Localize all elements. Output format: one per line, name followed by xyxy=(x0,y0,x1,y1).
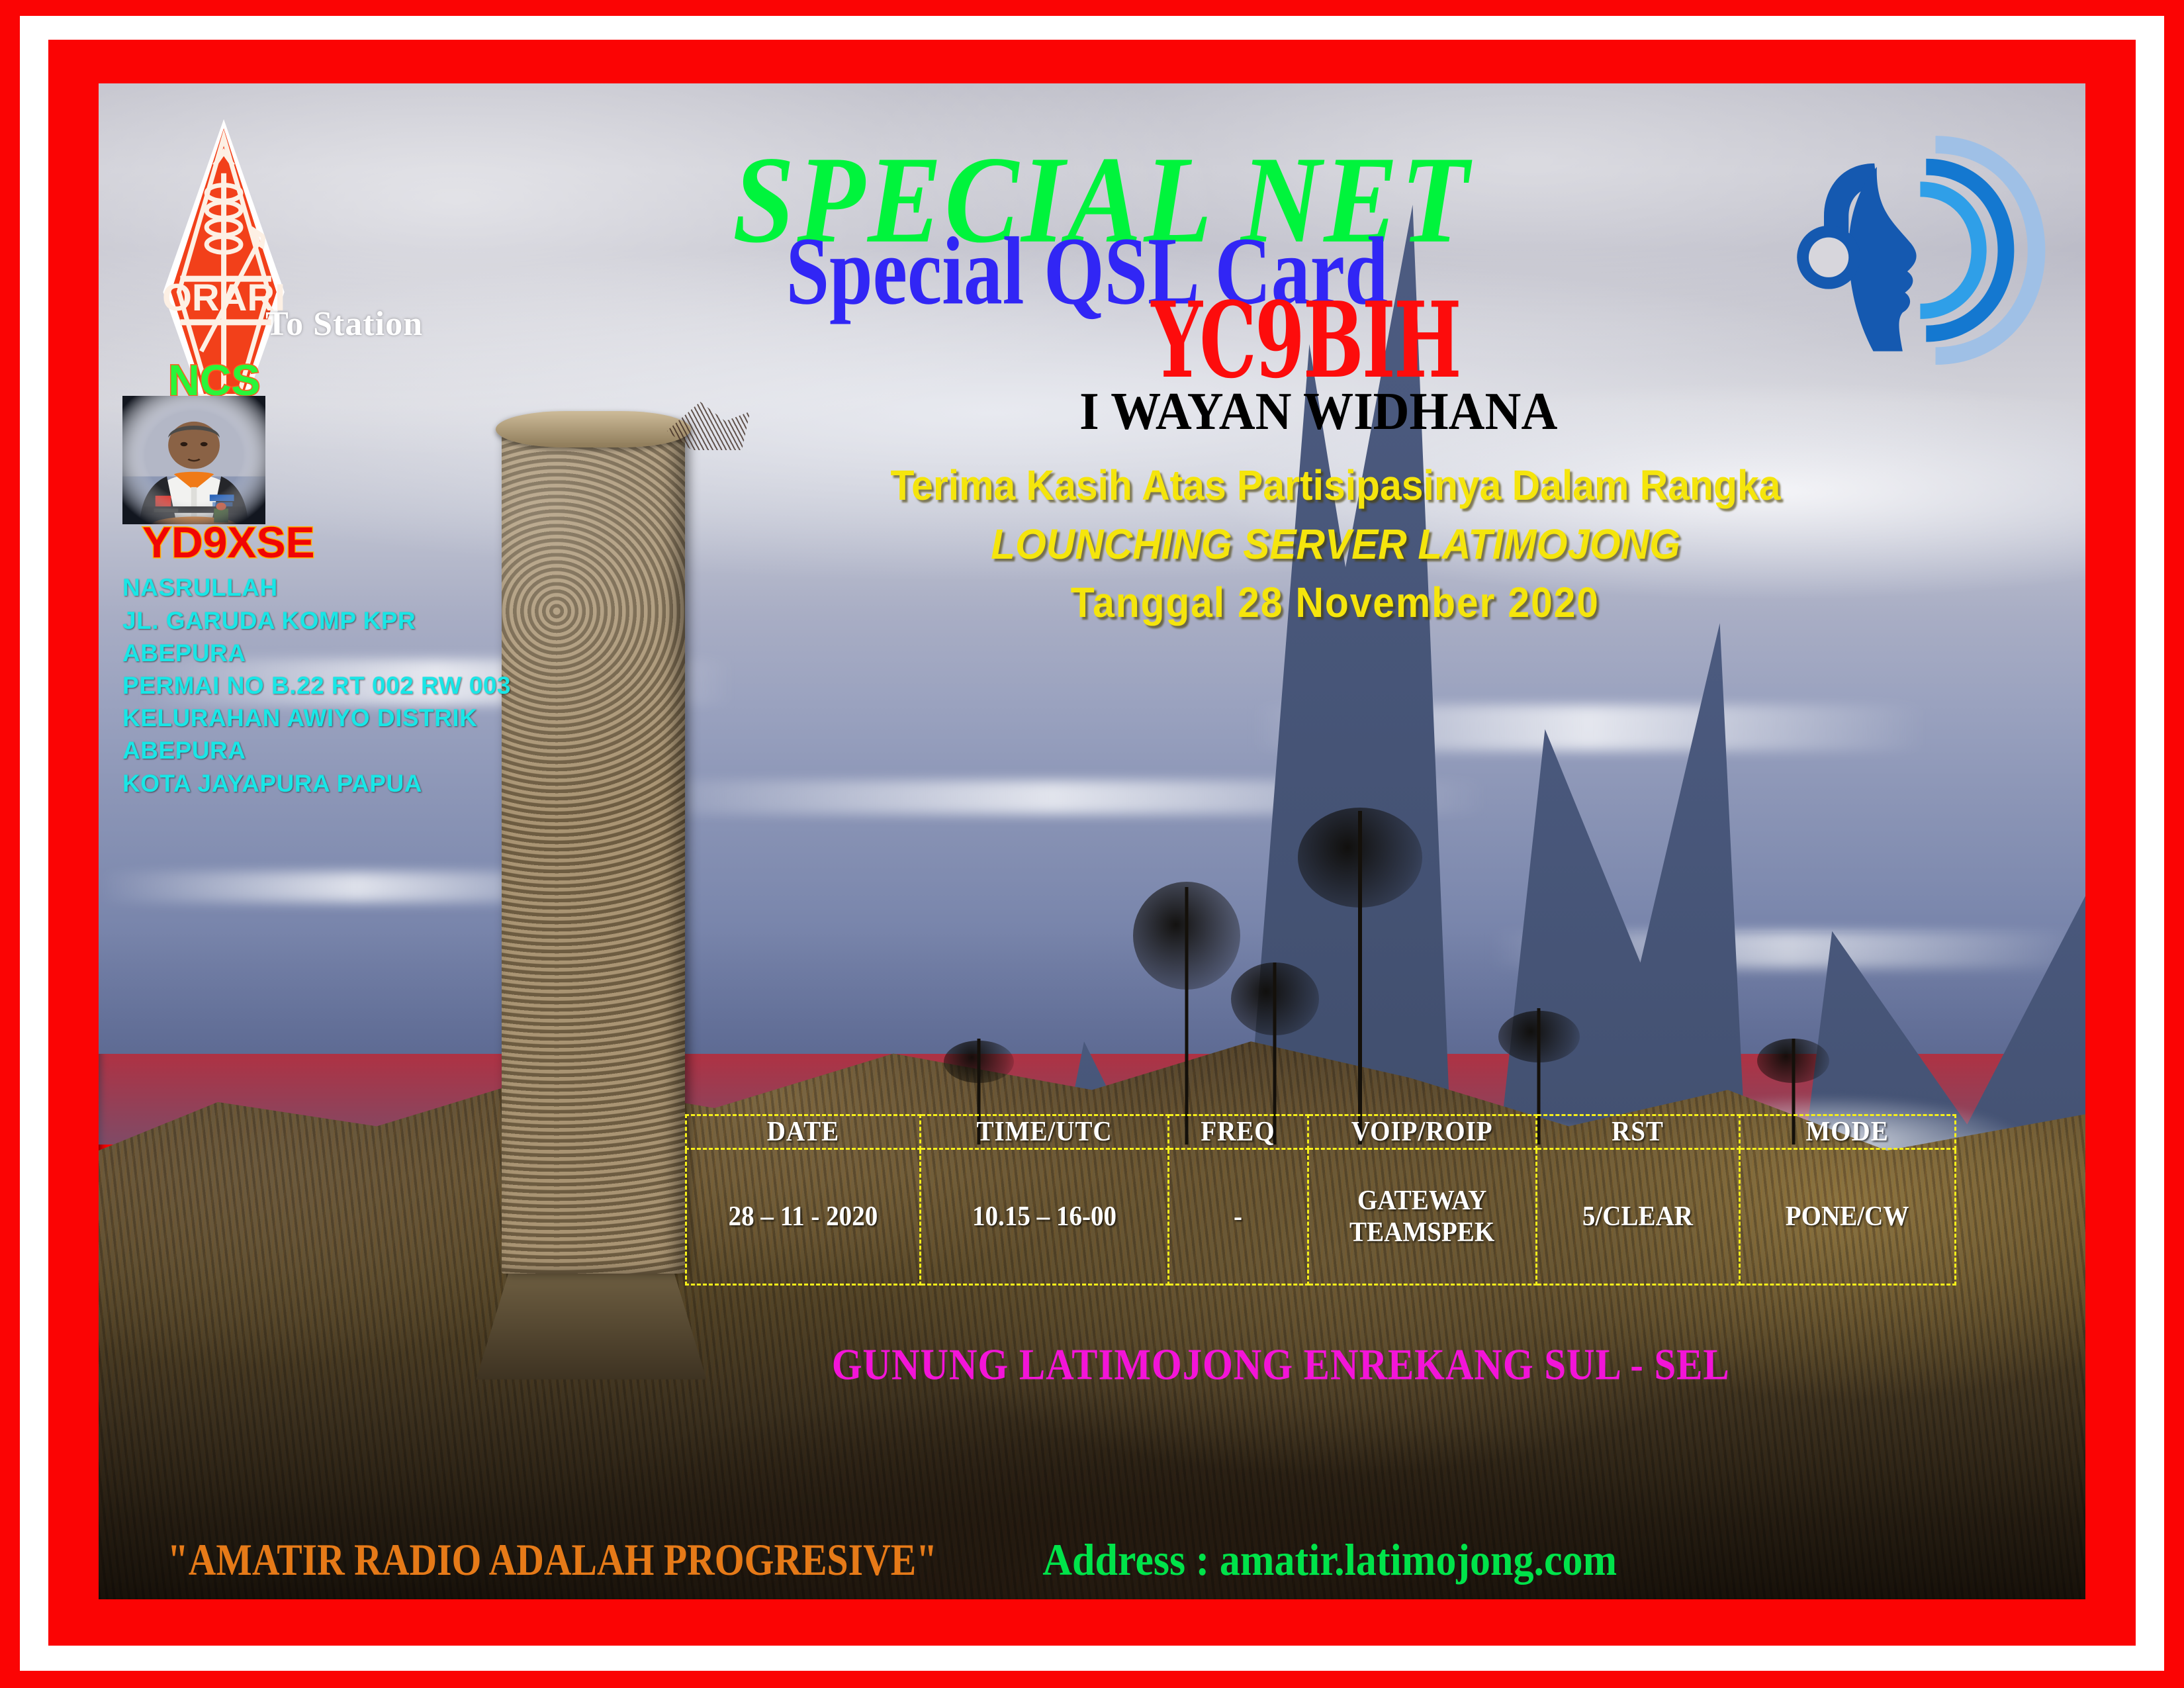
slogan-text: "AMATIR RADIO ADALAH PROGRESIVE" xyxy=(167,1535,937,1587)
cell-rst: 5/CLEAR xyxy=(1543,1149,1732,1285)
thanks-line-3: Tanggal 28 November 2020 xyxy=(1071,573,1600,632)
address-line: KELURAHAN AWIYO DISTRIK xyxy=(122,702,511,734)
column-header-mode: MODE xyxy=(1747,1115,1948,1149)
bare-tree xyxy=(1142,887,1231,1145)
address-line: KOTA JAYAPURA PAPUA xyxy=(122,767,511,800)
table-row: 28 – 11 - 2020 10.15 – 16-00 - GATEWAY T… xyxy=(686,1149,1955,1285)
table-header-row: DATE TIME/UTC FREQ VOIP/ROIP RST MODE xyxy=(686,1115,1955,1149)
card-outer-border: ORARI SPECIAL NET Special QSL Card To St… xyxy=(0,0,2184,1688)
column-header-date: DATE xyxy=(694,1115,912,1149)
thanks-line-2: LOUNCHING SERVER LATIMOJONG xyxy=(991,515,1680,573)
cell-freq: - xyxy=(1173,1149,1302,1285)
thanks-line-1: Terima Kasih Atas Partisipasinya Dalam R… xyxy=(890,456,1780,514)
recipient-callsign: YC9BIH xyxy=(238,288,1946,393)
card-footer: "AMATIR RADIO ADALAH PROGRESIVE" Address… xyxy=(99,1537,2085,1584)
card-inner-red-border: ORARI SPECIAL NET Special QSL Card To St… xyxy=(48,40,2136,1646)
cell-mode: PONE/CW xyxy=(1747,1149,1948,1285)
website-address: Address : amatir.latimojong.com xyxy=(1042,1535,1617,1587)
bare-tree xyxy=(1306,811,1414,1145)
qsl-card: ORARI SPECIAL NET Special QSL Card To St… xyxy=(99,83,2085,1599)
address-line: PERMAI NO B.22 RT 002 RW 003 xyxy=(122,669,511,702)
qso-log-table: DATE TIME/UTC FREQ VOIP/ROIP RST MODE 28… xyxy=(685,1114,1956,1286)
location-line: GUNUNG LATIMOJONG ENREKANG SUL - SEL xyxy=(148,1340,2036,1391)
address-line: ABEPURA xyxy=(122,637,511,669)
card-white-border: ORARI SPECIAL NET Special QSL Card To St… xyxy=(20,16,2164,1671)
address-line: ABEPURA xyxy=(122,734,511,767)
column-header-voip: VOIP/ROIP xyxy=(1316,1115,1528,1149)
column-header-rst: RST xyxy=(1543,1115,1732,1149)
recipient-name: I WAYAN WIDHANA xyxy=(148,385,2036,438)
cell-time: 10.15 – 16-00 xyxy=(929,1149,1160,1285)
column-header-freq: FREQ xyxy=(1173,1115,1302,1149)
thanks-message: Terima Kasih Atas Partisipasinya Dalam R… xyxy=(99,456,2085,632)
column-header-time: TIME/UTC xyxy=(929,1115,1160,1149)
cell-date: 28 – 11 - 2020 xyxy=(694,1149,912,1285)
cell-voip: GATEWAY TEAMSPEK xyxy=(1316,1149,1528,1285)
